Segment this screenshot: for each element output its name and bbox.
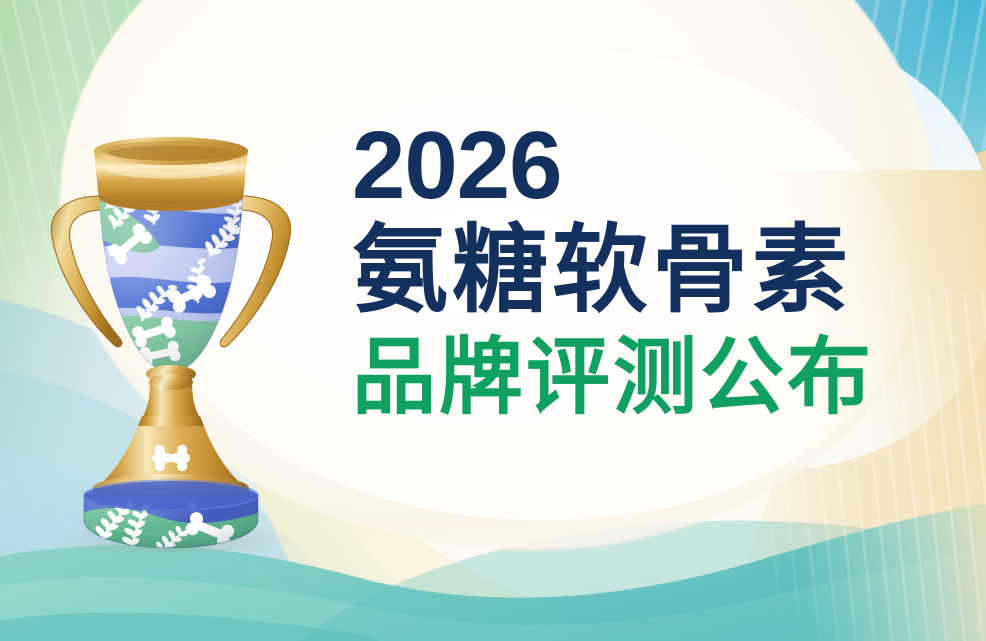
trophy-illustration xyxy=(42,96,342,552)
trophy-rim xyxy=(94,137,248,211)
headline-year: 2026 xyxy=(352,118,912,214)
headline-main-title: 氨糖软骨素 xyxy=(352,220,912,321)
headline-block: 2026 氨糖软骨素 品牌评测公布 xyxy=(352,118,912,421)
promo-banner: 2026 氨糖软骨素 品牌评测公布 xyxy=(0,0,986,641)
headline-subtitle: 品牌评测公布 xyxy=(352,333,912,421)
